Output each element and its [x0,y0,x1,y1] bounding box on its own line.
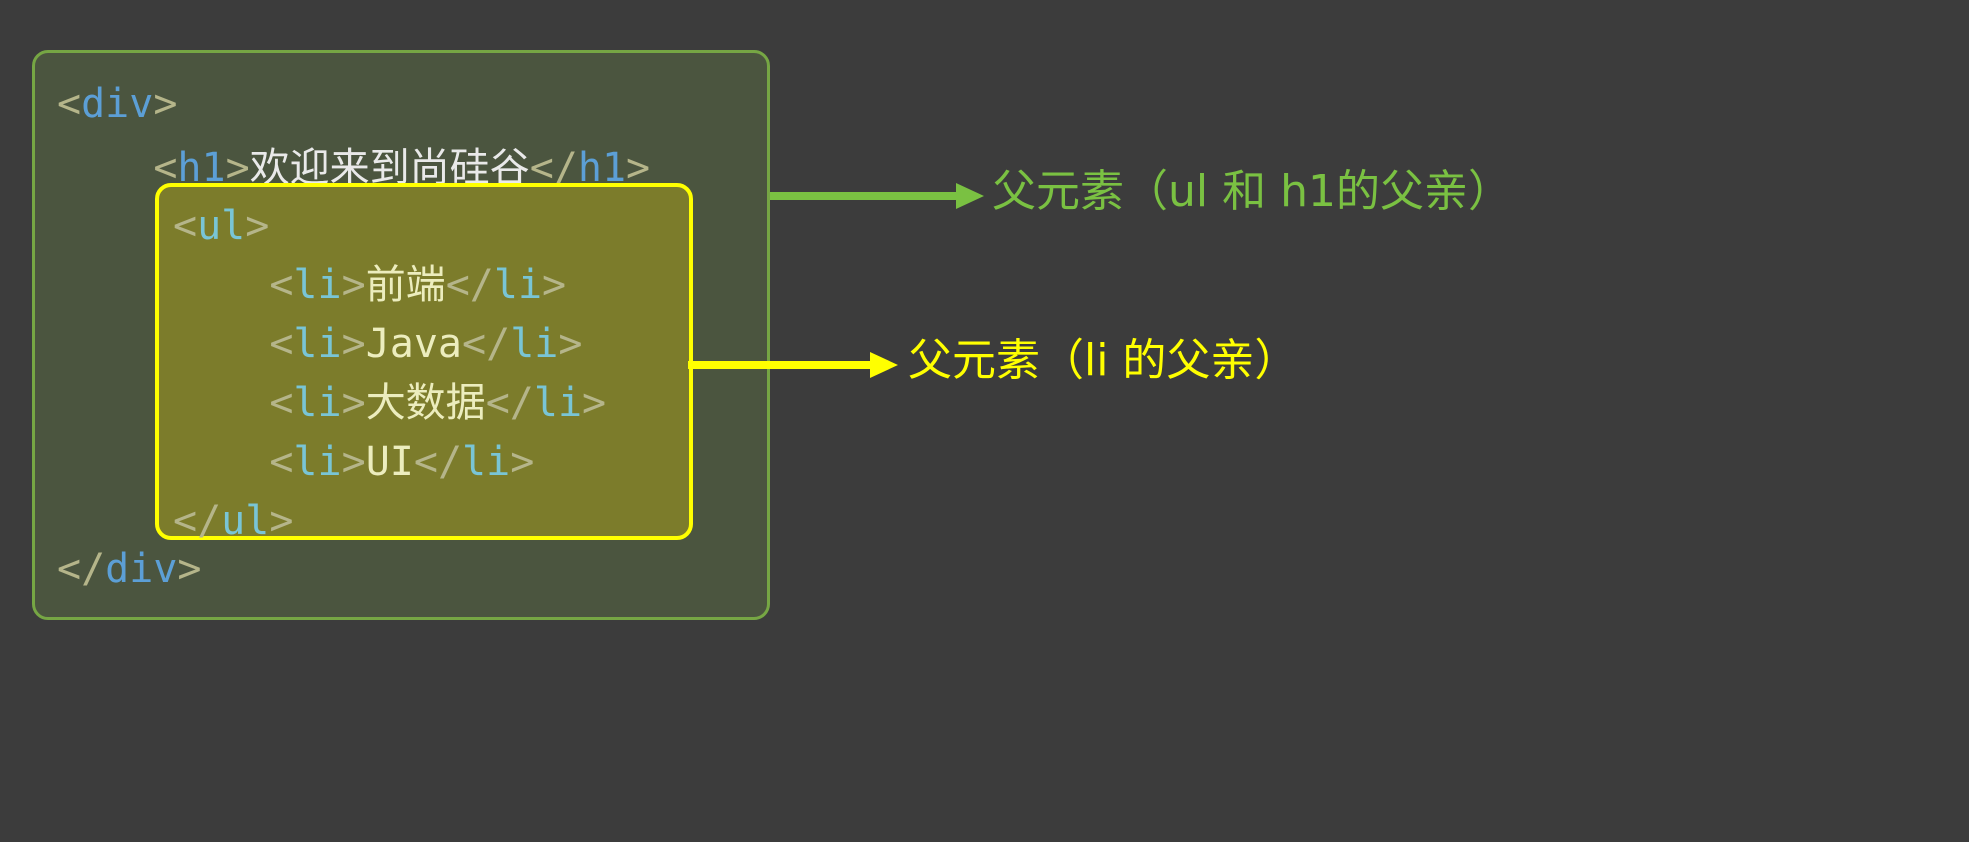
code-line-div-close: </div> [57,540,202,599]
angle-bracket-close-open: </ [462,321,510,367]
angle-bracket-close: > [245,203,269,249]
angle-bracket-close-open: </ [486,380,534,426]
indent-li [173,380,269,426]
angle-bracket-open: < [269,439,293,485]
tag-name-li: li [293,439,341,485]
code-line-ul-open: <ul> [173,197,269,256]
angle-bracket-close-end: > [558,321,582,367]
code-line-li-item: <li>Java</li> [173,315,582,374]
tag-name-li-close: li [494,262,542,308]
angle-bracket-close-end: > [269,498,293,544]
angle-bracket-close-end: > [177,546,201,592]
li-inner-text: UI [366,439,414,485]
angle-bracket-close-end: > [510,439,534,485]
tag-name-div: div [81,81,153,127]
tag-name-li: li [293,321,341,367]
tag-name-div-close: div [105,546,177,592]
angle-bracket-open: < [269,262,293,308]
angle-bracket-close: > [342,439,366,485]
angle-bracket-close-open: </ [446,262,494,308]
angle-bracket-close-open: </ [414,439,462,485]
angle-bracket-close-end: > [582,380,606,426]
tag-name-li-close: li [534,380,582,426]
arrow-head [956,183,984,209]
indent-li [173,321,269,367]
inner-ul-container-box: <ul> <li>前端</li> <li>Java</li> <li>大数据</… [155,183,693,540]
indent-li [173,439,269,485]
tag-name-li: li [293,380,341,426]
arrow-shaft [688,361,874,369]
indent-h1 [57,145,153,191]
outer-div-container-box: <div> <h1>欢迎来到尚硅谷</h1> <ul> <li>前端</li> … [32,50,770,620]
angle-bracket-close: > [153,81,177,127]
tag-name-li-close: li [462,439,510,485]
tag-name-li-close: li [510,321,558,367]
angle-bracket-close-end: > [542,262,566,308]
angle-bracket-close: > [342,262,366,308]
li-inner-text: 前端 [366,262,446,308]
code-line-li-item: <li>前端</li> [173,256,566,315]
arrow-shaft [770,192,960,200]
angle-bracket-open: < [269,380,293,426]
angle-bracket-open: < [57,81,81,127]
angle-bracket-close-open: </ [173,498,221,544]
code-line-li-item: <li>UI</li> [173,433,534,492]
code-line-li-item: <li>大数据</li> [173,374,606,433]
tag-name-ul-close: ul [221,498,269,544]
annotation-label-parent-ul: 父元素（li 的父亲） [908,335,1298,387]
angle-bracket-close: > [342,380,366,426]
tag-name-li: li [293,262,341,308]
arrow-head [870,352,898,378]
angle-bracket-close-open: </ [57,546,105,592]
angle-bracket-open: < [173,203,197,249]
li-inner-text: 大数据 [366,380,486,426]
tag-name-ul: ul [197,203,245,249]
angle-bracket-close: > [342,321,366,367]
annotation-label-parent-div: 父元素（ul 和 h1的父亲） [992,166,1512,218]
angle-bracket-open: < [269,321,293,367]
li-inner-text: Java [366,321,462,367]
code-line-div-open: <div> [57,75,177,134]
indent-li [173,262,269,308]
